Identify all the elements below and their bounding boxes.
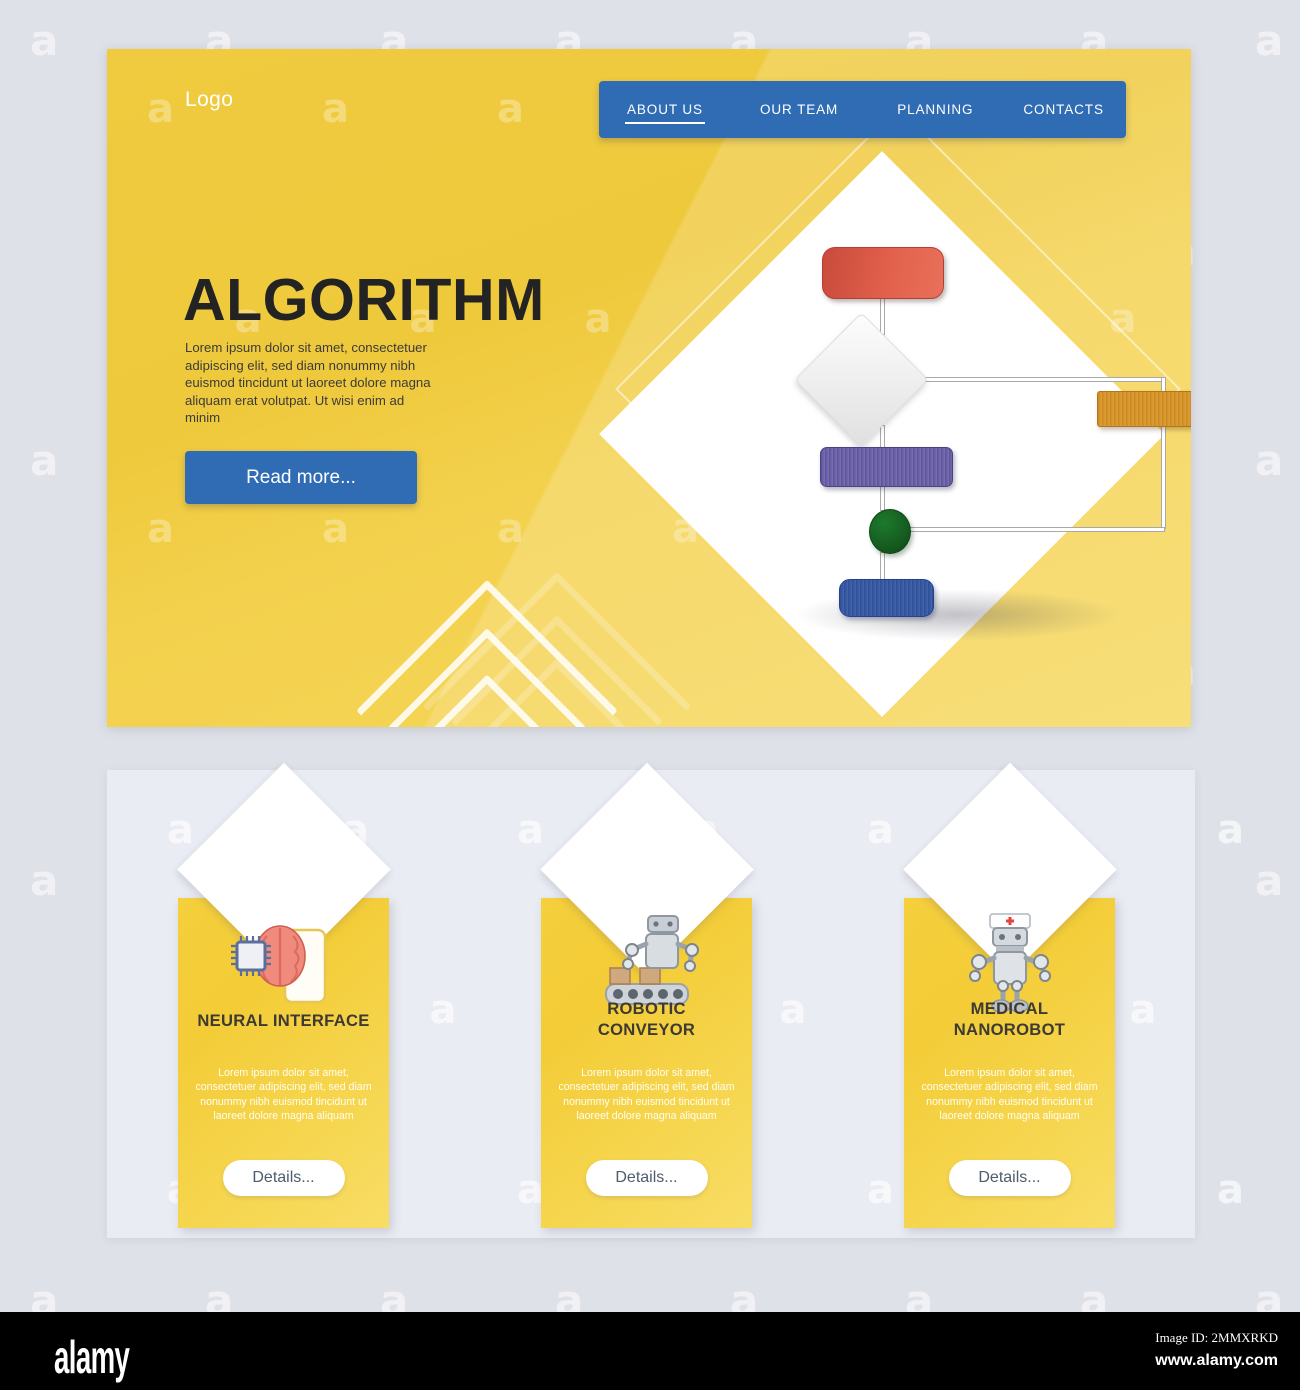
- card-body-1: Lorem ipsum dolor sit amet, consectetuer…: [190, 1066, 377, 1124]
- details-button-1[interactable]: Details...: [223, 1160, 345, 1196]
- card-title-1: NEURAL INTERFACE: [178, 1010, 389, 1031]
- connector-branch-down: [1161, 425, 1166, 529]
- flowchart-illustration: [562, 169, 1182, 709]
- connector-process-to-circle: [880, 485, 885, 511]
- card-title-2: ROBOTIC CONVEYOR: [541, 998, 752, 1040]
- flow-node-connector: [869, 509, 911, 554]
- flow-node-start: [822, 247, 944, 299]
- feature-card-neural-interface[interactable]: NEURAL INTERFACE Lorem ipsum dolor sit a…: [178, 898, 389, 1228]
- feature-cards-section: aaaaaaaaaaaaaaaaaaaaa: [107, 770, 1195, 1238]
- feature-card-medical-nanorobot[interactable]: MEDICAL NANOROBOT Lorem ipsum dolor sit …: [904, 898, 1115, 1228]
- connector-decision-to-right: [908, 377, 1166, 382]
- card-title-3: MEDICAL NANOROBOT: [904, 998, 1115, 1040]
- card-title-2-line-2: CONVEYOR: [541, 1019, 752, 1040]
- details-button-2[interactable]: Details...: [586, 1160, 708, 1196]
- nav-item-planning[interactable]: PLANNING: [895, 98, 975, 121]
- alamy-url: www.alamy.com: [1155, 1352, 1278, 1370]
- stock-footer: alamy Image ID: 2MMXRKD www.alamy.com: [0, 1312, 1300, 1390]
- main-navigation: ABOUT US OUR TEAM PLANNING CONTACTS: [599, 81, 1126, 138]
- card-body-2: Lorem ipsum dolor sit amet, consectetuer…: [553, 1066, 740, 1124]
- flow-node-branch: [1097, 391, 1191, 427]
- connector-start-to-decision: [880, 297, 885, 335]
- connector-decision-to-process: [880, 425, 885, 449]
- nav-item-our-team[interactable]: OUR TEAM: [758, 98, 840, 121]
- logo[interactable]: Logo: [185, 88, 233, 112]
- brain-chip-icon: [225, 912, 343, 1020]
- card-title-2-line-1: ROBOTIC: [541, 998, 752, 1019]
- flow-node-process: [820, 447, 953, 487]
- card-body-3: Lorem ipsum dolor sit amet, consectetuer…: [916, 1066, 1103, 1124]
- hero-section: aaaaaaaaaaaaaaaaaaaaaaaaaaaaaaaaaaa Logo…: [107, 49, 1191, 727]
- card-title-3-line-2: NANOROBOT: [904, 1019, 1115, 1040]
- hero-description: Lorem ipsum dolor sit amet, consectetuer…: [185, 339, 435, 427]
- details-button-3[interactable]: Details...: [949, 1160, 1071, 1196]
- flow-node-end: [839, 579, 934, 617]
- read-more-button[interactable]: Read more...: [185, 451, 417, 504]
- nav-item-contacts[interactable]: CONTACTS: [1021, 98, 1105, 121]
- image-id-label: Image ID: 2MMXRKD: [1155, 1330, 1278, 1346]
- feature-card-robotic-conveyor[interactable]: ROBOTIC CONVEYOR Lorem ipsum dolor sit a…: [541, 898, 752, 1228]
- alamy-logo: alamy: [54, 1330, 129, 1384]
- card-title-3-line-1: MEDICAL: [904, 998, 1115, 1019]
- connector-loop-back-to-circle: [907, 527, 1165, 532]
- connector-circle-to-end: [880, 552, 885, 581]
- page-title: ALGORITHM: [183, 266, 545, 334]
- nav-item-about-us[interactable]: ABOUT US: [625, 98, 705, 121]
